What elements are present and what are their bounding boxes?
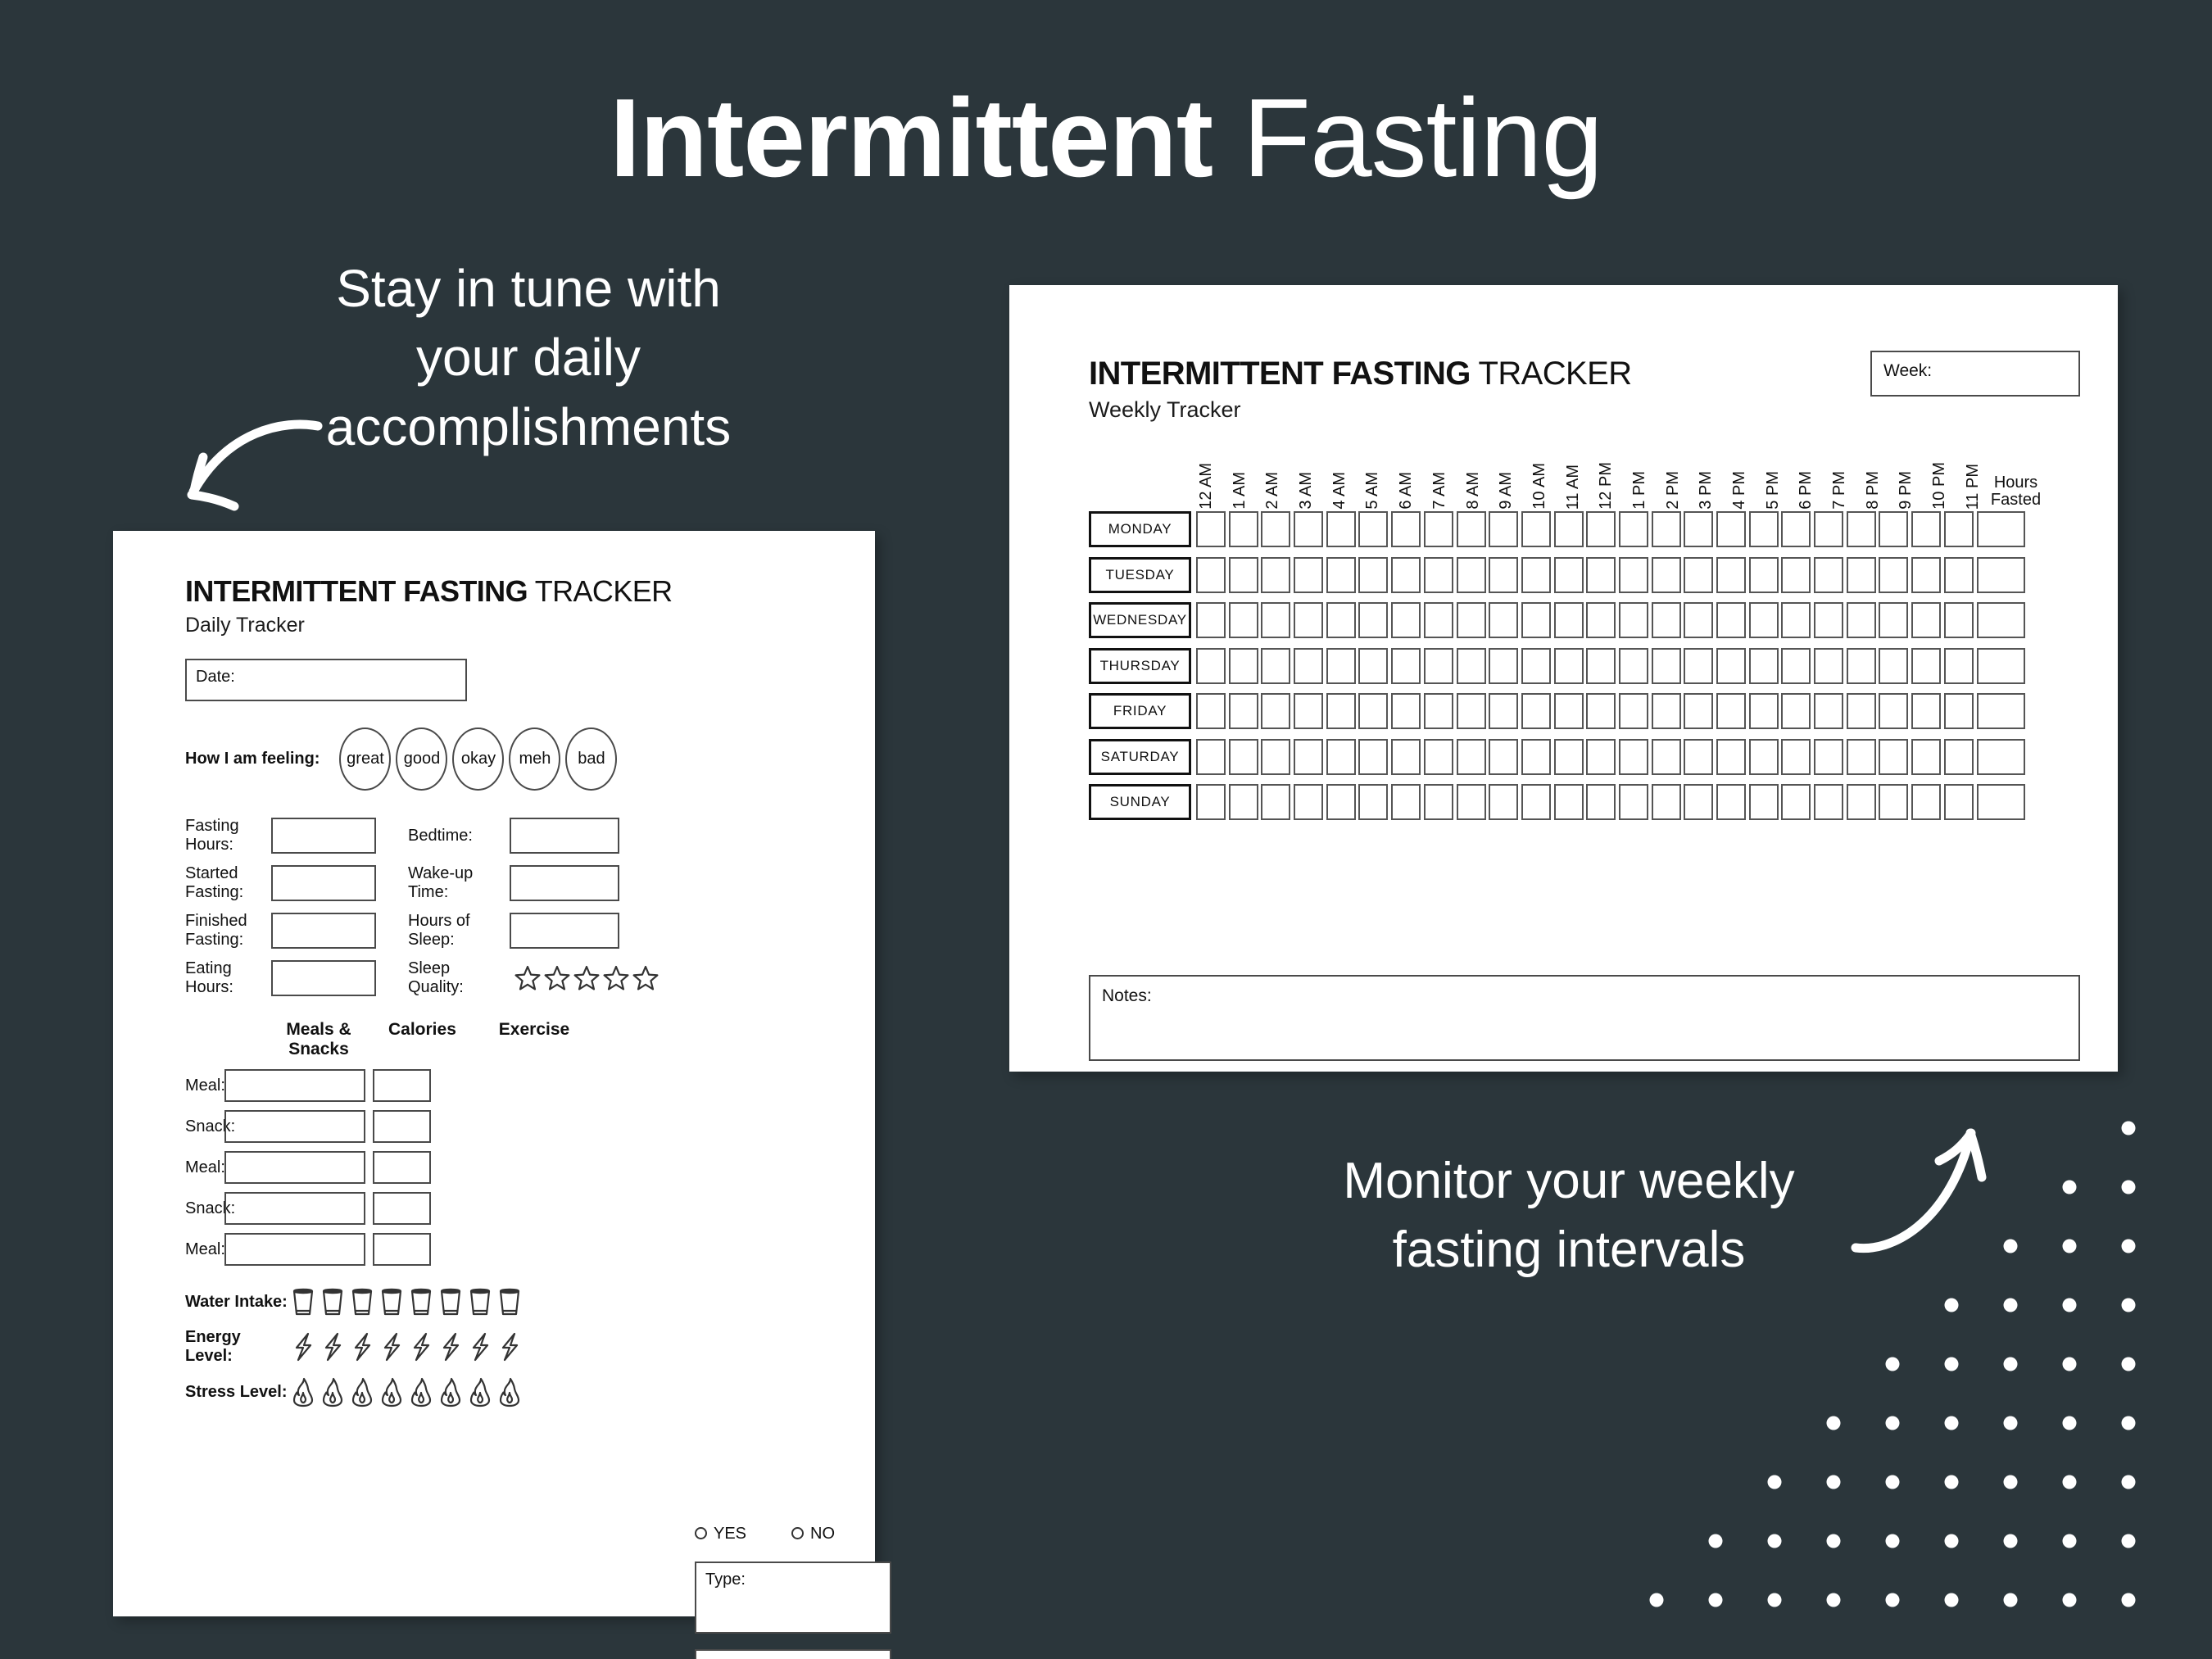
weekly-row-friday: FRIDAY: [1089, 693, 2025, 729]
hour-cell[interactable]: [1326, 511, 1356, 547]
hour-cell[interactable]: [1652, 693, 1681, 729]
decorative-dot: [1886, 1534, 1900, 1548]
hour-cell[interactable]: [1847, 739, 1876, 775]
hour-header-9: 9 AM: [1491, 446, 1521, 510]
hour-cell[interactable]: [1879, 648, 1908, 684]
feeling-row: How I am feeling: great good okay meh ba…: [185, 728, 803, 791]
hour-cell[interactable]: [1716, 557, 1746, 593]
hour-cell[interactable]: [1554, 648, 1584, 684]
hour-cell[interactable]: [1261, 557, 1290, 593]
decorative-dot: [1945, 1475, 1959, 1489]
hour-cell[interactable]: [1911, 511, 1941, 547]
field-row: Started Fasting: Wake-up Time:: [185, 864, 803, 902]
hour-cell[interactable]: [1586, 511, 1616, 547]
hour-cells: [1196, 511, 2025, 547]
lightning-bolt-icon[interactable]: [320, 1332, 346, 1362]
hour-cell[interactable]: [1879, 784, 1908, 820]
water-intake-label: Water Intake:: [185, 1293, 290, 1312]
lightning-bolt-icon[interactable]: [467, 1332, 493, 1362]
hours-fasted-cell[interactable]: [1977, 648, 2025, 684]
hour-header-10: 10 AM: [1525, 446, 1555, 510]
hour-cell[interactable]: [1944, 602, 1974, 638]
hour-cell[interactable]: [1619, 557, 1648, 593]
hour-cell[interactable]: [1652, 739, 1681, 775]
hour-cell[interactable]: [1424, 784, 1453, 820]
star-icon[interactable]: [573, 965, 600, 991]
weekly-tracker-title: INTERMITTENT FASTING TRACKER: [1089, 357, 1632, 390]
lightning-bolt-icon[interactable]: [290, 1332, 316, 1362]
hour-cell[interactable]: [1326, 648, 1356, 684]
feeling-option-great[interactable]: great: [339, 728, 391, 791]
decorative-dot: [2063, 1475, 2077, 1489]
water-glass-icon[interactable]: [408, 1287, 434, 1317]
weekly-notes-field[interactable]: Notes:: [1089, 975, 2080, 1061]
weekly-row-wednesday: WEDNESDAY: [1089, 602, 2025, 638]
hour-cell[interactable]: [1879, 693, 1908, 729]
decorative-dot: [2004, 1475, 2018, 1489]
hour-cell[interactable]: [1847, 693, 1876, 729]
hour-cell[interactable]: [1879, 557, 1908, 593]
water-glass-icon[interactable]: [437, 1287, 464, 1317]
flame-icon[interactable]: [437, 1377, 464, 1407]
hour-cell[interactable]: [1229, 648, 1258, 684]
hour-cell[interactable]: [1261, 739, 1290, 775]
lightning-bolt-icons[interactable]: [290, 1332, 523, 1362]
hours-fasted-cell[interactable]: [1977, 602, 2025, 638]
hour-cell[interactable]: [1619, 784, 1648, 820]
hour-cell[interactable]: [1424, 739, 1453, 775]
hour-cell[interactable]: [1586, 648, 1616, 684]
hour-cell[interactable]: [1944, 511, 1974, 547]
hour-cell[interactable]: [1358, 602, 1388, 638]
hour-cell[interactable]: [1489, 557, 1518, 593]
hour-cell[interactable]: [1781, 557, 1811, 593]
hour-cell[interactable]: [1684, 557, 1713, 593]
day-label-friday: FRIDAY: [1089, 693, 1191, 729]
decorative-dot: [2122, 1299, 2136, 1312]
hour-cell[interactable]: [1358, 648, 1388, 684]
hour-header-label: 7 PM: [1830, 471, 1849, 510]
hour-cell[interactable]: [1261, 648, 1290, 684]
water-glass-icon[interactable]: [290, 1287, 316, 1317]
hour-cell[interactable]: [1521, 648, 1551, 684]
hour-cell[interactable]: [1781, 602, 1811, 638]
daily-tracker-subtitle: Daily Tracker: [185, 614, 803, 637]
hour-cell[interactable]: [1294, 602, 1323, 638]
lightning-bolt-icon[interactable]: [437, 1332, 464, 1362]
hour-cell[interactable]: [1294, 739, 1323, 775]
hour-header-label: 4 AM: [1330, 472, 1349, 510]
hours-fasted-cell[interactable]: [1977, 557, 2025, 593]
hour-cell[interactable]: [1586, 739, 1616, 775]
hour-cell[interactable]: [1391, 557, 1421, 593]
hour-cell[interactable]: [1749, 739, 1779, 775]
decorative-dot: [1768, 1534, 1782, 1548]
hours-fasted-line2: Fasted: [1991, 492, 2041, 510]
hour-cell[interactable]: [1847, 557, 1876, 593]
hour-cell[interactable]: [1424, 557, 1453, 593]
hour-header-16: 4 PM: [1725, 446, 1755, 510]
hour-cell[interactable]: [1457, 739, 1486, 775]
hour-cell[interactable]: [1652, 648, 1681, 684]
exercise-yes-label: YES: [714, 1525, 746, 1543]
hour-cell[interactable]: [1196, 739, 1226, 775]
hour-cell[interactable]: [1489, 511, 1518, 547]
wakeup-time-input[interactable]: [510, 865, 619, 901]
hour-cell[interactable]: [1521, 511, 1551, 547]
lightning-bolt-icon[interactable]: [496, 1332, 523, 1362]
hour-cell[interactable]: [1586, 602, 1616, 638]
meal-name-input[interactable]: [224, 1151, 365, 1184]
hour-cell[interactable]: [1554, 511, 1584, 547]
hour-cell[interactable]: [1781, 693, 1811, 729]
hours-fasted-cell[interactable]: [1977, 693, 2025, 729]
hour-cell[interactable]: [1911, 557, 1941, 593]
hour-cell[interactable]: [1196, 693, 1226, 729]
daily-title-regular: TRACKER: [528, 574, 673, 608]
hour-header-6: 6 AM: [1391, 446, 1421, 510]
hour-cell[interactable]: [1196, 557, 1226, 593]
exercise-duration-field[interactable]: Duration:: [695, 1649, 891, 1659]
hour-cell[interactable]: [1911, 648, 1941, 684]
hour-cell[interactable]: [1261, 602, 1290, 638]
hour-cell[interactable]: [1879, 511, 1908, 547]
hour-cell[interactable]: [1424, 693, 1453, 729]
hours-fasted-cell[interactable]: [1977, 511, 2025, 547]
lightning-bolt-icon[interactable]: [378, 1332, 405, 1362]
exercise-duration-label: Duration:: [696, 1651, 890, 1659]
decorative-dot: [2063, 1358, 2077, 1371]
hour-cell[interactable]: [1586, 557, 1616, 593]
hour-cell[interactable]: [1391, 784, 1421, 820]
hour-cell[interactable]: [1944, 648, 1974, 684]
hours-of-sleep-input[interactable]: [510, 913, 619, 949]
hour-cell[interactable]: [1196, 602, 1226, 638]
hour-cell[interactable]: [1294, 648, 1323, 684]
hour-cell[interactable]: [1944, 784, 1974, 820]
water-glass-icon[interactable]: [349, 1287, 375, 1317]
hour-cell[interactable]: [1879, 739, 1908, 775]
meal-row: Meal:: [185, 1151, 803, 1184]
meal-calories-input[interactable]: [373, 1069, 431, 1102]
hour-cell[interactable]: [1847, 784, 1876, 820]
hour-cell[interactable]: [1781, 784, 1811, 820]
hour-header-label: 9 AM: [1497, 472, 1516, 510]
hour-cell[interactable]: [1847, 648, 1876, 684]
radio-circle-icon: [791, 1527, 804, 1539]
hour-cell[interactable]: [1489, 739, 1518, 775]
meal-row-label: Meal:: [185, 1077, 224, 1095]
hour-cell[interactable]: [1521, 739, 1551, 775]
exercise-no-label: NO: [810, 1525, 835, 1543]
hour-cell[interactable]: [1196, 511, 1226, 547]
hour-cell[interactable]: [1781, 739, 1811, 775]
feeling-option-good[interactable]: good: [396, 728, 447, 791]
hour-cell[interactable]: [1749, 784, 1779, 820]
meal-row: Snack:: [185, 1110, 803, 1143]
hour-cell[interactable]: [1814, 693, 1843, 729]
lightning-bolt-icon[interactable]: [408, 1332, 434, 1362]
hour-cell[interactable]: [1457, 602, 1486, 638]
hour-cell[interactable]: [1521, 557, 1551, 593]
date-field[interactable]: Date:: [185, 659, 467, 701]
hour-cell[interactable]: [1229, 557, 1258, 593]
hour-cell[interactable]: [1652, 557, 1681, 593]
hour-cell[interactable]: [1586, 784, 1616, 820]
hour-cell[interactable]: [1814, 511, 1843, 547]
hour-cells: [1196, 693, 2025, 729]
hour-cell[interactable]: [1358, 511, 1388, 547]
hour-cell[interactable]: [1781, 511, 1811, 547]
water-glass-icon[interactable]: [320, 1287, 346, 1317]
hour-cell[interactable]: [1684, 784, 1713, 820]
meal-calories-input[interactable]: [373, 1192, 431, 1225]
hour-cell[interactable]: [1229, 511, 1258, 547]
hour-cell[interactable]: [1326, 602, 1356, 638]
feeling-option-bad[interactable]: bad: [565, 728, 617, 791]
hour-cell[interactable]: [1358, 784, 1388, 820]
hour-cell[interactable]: [1457, 693, 1486, 729]
hour-cell[interactable]: [1749, 557, 1779, 593]
hour-cell[interactable]: [1489, 784, 1518, 820]
hour-header-label: 9 PM: [1897, 471, 1915, 510]
field-row: Eating Hours: Sleep Quality:: [185, 959, 803, 997]
flame-icon[interactable]: [378, 1377, 405, 1407]
hour-cell[interactable]: [1424, 648, 1453, 684]
hour-cell[interactable]: [1814, 739, 1843, 775]
hour-cell[interactable]: [1652, 784, 1681, 820]
hour-cell[interactable]: [1358, 557, 1388, 593]
hour-cell[interactable]: [1391, 511, 1421, 547]
hour-cell[interactable]: [1619, 511, 1648, 547]
hour-cell[interactable]: [1521, 784, 1551, 820]
bedtime-input[interactable]: [510, 818, 619, 854]
hour-cell[interactable]: [1358, 693, 1388, 729]
hour-cell[interactable]: [1554, 557, 1584, 593]
hour-cell[interactable]: [1229, 784, 1258, 820]
flame-icon[interactable]: [320, 1377, 346, 1407]
meal-row-label: Snack:: [185, 1117, 224, 1136]
hour-cell[interactable]: [1261, 693, 1290, 729]
hour-cell[interactable]: [1457, 557, 1486, 593]
hour-cell[interactable]: [1489, 602, 1518, 638]
exercise-section: YES NO Type: Duration:: [695, 1525, 891, 1659]
water-glass-icon[interactable]: [467, 1287, 493, 1317]
exercise-yes-option[interactable]: YES: [695, 1525, 746, 1543]
decorative-dot: [2063, 1299, 2077, 1312]
hour-cell[interactable]: [1196, 784, 1226, 820]
hour-cell[interactable]: [1391, 693, 1421, 729]
meals-header-calories: Calories: [388, 1020, 452, 1059]
decorative-dot: [1709, 1593, 1723, 1607]
hour-cell[interactable]: [1911, 784, 1941, 820]
hour-cell[interactable]: [1944, 739, 1974, 775]
hour-cell[interactable]: [1847, 602, 1876, 638]
hour-cell[interactable]: [1358, 739, 1388, 775]
flame-icon[interactable]: [467, 1377, 493, 1407]
meal-name-input[interactable]: [224, 1110, 365, 1143]
hour-cell[interactable]: [1294, 557, 1323, 593]
hour-cell[interactable]: [1391, 739, 1421, 775]
water-glass-icons[interactable]: [290, 1287, 523, 1317]
hour-cell[interactable]: [1391, 648, 1421, 684]
hour-cell[interactable]: [1294, 784, 1323, 820]
weekly-tracker-subtitle: Weekly Tracker: [1089, 397, 1632, 423]
hour-cell[interactable]: [1911, 739, 1941, 775]
hour-cell[interactable]: [1847, 511, 1876, 547]
hour-cell[interactable]: [1489, 693, 1518, 729]
meal-name-input[interactable]: [224, 1233, 365, 1266]
hours-fasted-cell[interactable]: [1977, 784, 2025, 820]
hour-cell[interactable]: [1749, 511, 1779, 547]
hour-cell[interactable]: [1521, 602, 1551, 638]
hour-cell[interactable]: [1457, 784, 1486, 820]
hour-cell[interactable]: [1749, 602, 1779, 638]
hour-cell[interactable]: [1554, 739, 1584, 775]
hour-header-3: 3 AM: [1291, 446, 1321, 510]
hour-cell[interactable]: [1716, 693, 1746, 729]
exercise-type-field[interactable]: Type:: [695, 1562, 891, 1634]
lightning-bolt-icon[interactable]: [349, 1332, 375, 1362]
hour-cell[interactable]: [1619, 739, 1648, 775]
meal-name-input[interactable]: [224, 1192, 365, 1225]
hour-cells: [1196, 557, 2025, 593]
hour-cell[interactable]: [1716, 784, 1746, 820]
hour-cell[interactable]: [1652, 511, 1681, 547]
hour-cell[interactable]: [1716, 739, 1746, 775]
finished-fasting-input[interactable]: [271, 913, 376, 949]
hour-cell[interactable]: [1196, 648, 1226, 684]
hour-header-label: 12 AM: [1197, 463, 1216, 510]
hour-cell[interactable]: [1554, 602, 1584, 638]
exercise-no-option[interactable]: NO: [791, 1525, 835, 1543]
hour-cell[interactable]: [1619, 693, 1648, 729]
weekly-title-regular: TRACKER: [1471, 356, 1632, 392]
hours-fasted-cell[interactable]: [1977, 739, 2025, 775]
hour-cell[interactable]: [1391, 602, 1421, 638]
fasting-hours-input[interactable]: [271, 818, 376, 854]
weekly-row-sunday: SUNDAY: [1089, 784, 2025, 820]
decorative-dot: [1945, 1358, 1959, 1371]
hour-header-4: 4 AM: [1325, 446, 1355, 510]
hour-cell[interactable]: [1457, 511, 1486, 547]
feeling-option-okay[interactable]: okay: [452, 728, 504, 791]
star-icon[interactable]: [603, 965, 629, 991]
hour-cell[interactable]: [1326, 739, 1356, 775]
hour-cell[interactable]: [1684, 602, 1713, 638]
hour-cell[interactable]: [1229, 739, 1258, 775]
feeling-option-meh[interactable]: meh: [509, 728, 560, 791]
hour-cell[interactable]: [1294, 511, 1323, 547]
hour-cell[interactable]: [1586, 693, 1616, 729]
hour-cell[interactable]: [1944, 693, 1974, 729]
decorative-dot: [2004, 1593, 2018, 1607]
hour-cell[interactable]: [1814, 648, 1843, 684]
hour-cell[interactable]: [1457, 648, 1486, 684]
hour-cell[interactable]: [1684, 739, 1713, 775]
star-icon[interactable]: [514, 965, 541, 991]
decorative-dot: [1827, 1593, 1841, 1607]
hour-cell[interactable]: [1684, 693, 1713, 729]
hour-cell[interactable]: [1489, 648, 1518, 684]
flame-icon[interactable]: [408, 1377, 434, 1407]
feeling-options: great good okay meh bad: [339, 728, 622, 791]
flame-icons[interactable]: [290, 1377, 523, 1407]
hour-cell[interactable]: [1619, 602, 1648, 638]
meal-row-label: Meal:: [185, 1158, 224, 1177]
water-glass-icon[interactable]: [496, 1287, 523, 1317]
meal-calories-input[interactable]: [373, 1233, 431, 1266]
hour-cell[interactable]: [1814, 557, 1843, 593]
hour-cell[interactable]: [1326, 784, 1356, 820]
eating-hours-input[interactable]: [271, 960, 376, 996]
weekly-title-strong: INTERMITTENT FASTING: [1089, 356, 1471, 392]
hour-cell[interactable]: [1814, 602, 1843, 638]
hour-header-label: 12 PM: [1597, 462, 1616, 510]
hour-cell[interactable]: [1911, 602, 1941, 638]
flame-icon[interactable]: [496, 1377, 523, 1407]
star-icon[interactable]: [632, 965, 659, 991]
hour-cell[interactable]: [1749, 693, 1779, 729]
hour-cell[interactable]: [1781, 648, 1811, 684]
meal-name-input[interactable]: [224, 1069, 365, 1102]
decorative-dot: [2004, 1240, 2018, 1253]
hour-cell[interactable]: [1554, 784, 1584, 820]
hour-cell[interactable]: [1911, 693, 1941, 729]
hour-cell[interactable]: [1814, 784, 1843, 820]
hour-cell[interactable]: [1684, 511, 1713, 547]
week-field[interactable]: Week:: [1870, 351, 2080, 397]
field-row: Fasting Hours: Bedtime:: [185, 817, 803, 854]
hour-cell[interactable]: [1229, 693, 1258, 729]
meal-calories-input[interactable]: [373, 1151, 431, 1184]
hour-cell[interactable]: [1294, 693, 1323, 729]
hour-cell[interactable]: [1261, 784, 1290, 820]
meal-row: Snack:: [185, 1192, 803, 1225]
meal-row: Meal:: [185, 1069, 803, 1102]
hour-cell[interactable]: [1424, 602, 1453, 638]
hour-cell[interactable]: [1652, 602, 1681, 638]
hour-cell[interactable]: [1944, 557, 1974, 593]
hour-cell[interactable]: [1879, 602, 1908, 638]
decorative-dot: [2004, 1534, 2018, 1548]
star-icon[interactable]: [544, 965, 570, 991]
hour-cell[interactable]: [1229, 602, 1258, 638]
hour-header-12: 12 PM: [1591, 446, 1621, 510]
meal-row: Meal:: [185, 1233, 803, 1266]
water-glass-icon[interactable]: [378, 1287, 405, 1317]
hour-cell[interactable]: [1261, 511, 1290, 547]
hour-cell[interactable]: [1716, 602, 1746, 638]
weekly-notes-label: Notes:: [1090, 977, 2078, 1006]
sleep-quality-stars[interactable]: [514, 965, 659, 991]
hour-cell[interactable]: [1749, 648, 1779, 684]
hour-cell[interactable]: [1326, 693, 1356, 729]
flame-icon[interactable]: [290, 1377, 316, 1407]
hour-cell[interactable]: [1716, 648, 1746, 684]
hour-cell[interactable]: [1424, 511, 1453, 547]
hour-cell[interactable]: [1326, 557, 1356, 593]
started-fasting-input[interactable]: [271, 865, 376, 901]
hour-cell[interactable]: [1521, 693, 1551, 729]
hour-cell[interactable]: [1684, 648, 1713, 684]
meal-calories-input[interactable]: [373, 1110, 431, 1143]
hour-cell[interactable]: [1716, 511, 1746, 547]
hour-cell[interactable]: [1619, 648, 1648, 684]
meal-row-label: Meal:: [185, 1240, 224, 1259]
flame-icon[interactable]: [349, 1377, 375, 1407]
hour-cell[interactable]: [1554, 693, 1584, 729]
